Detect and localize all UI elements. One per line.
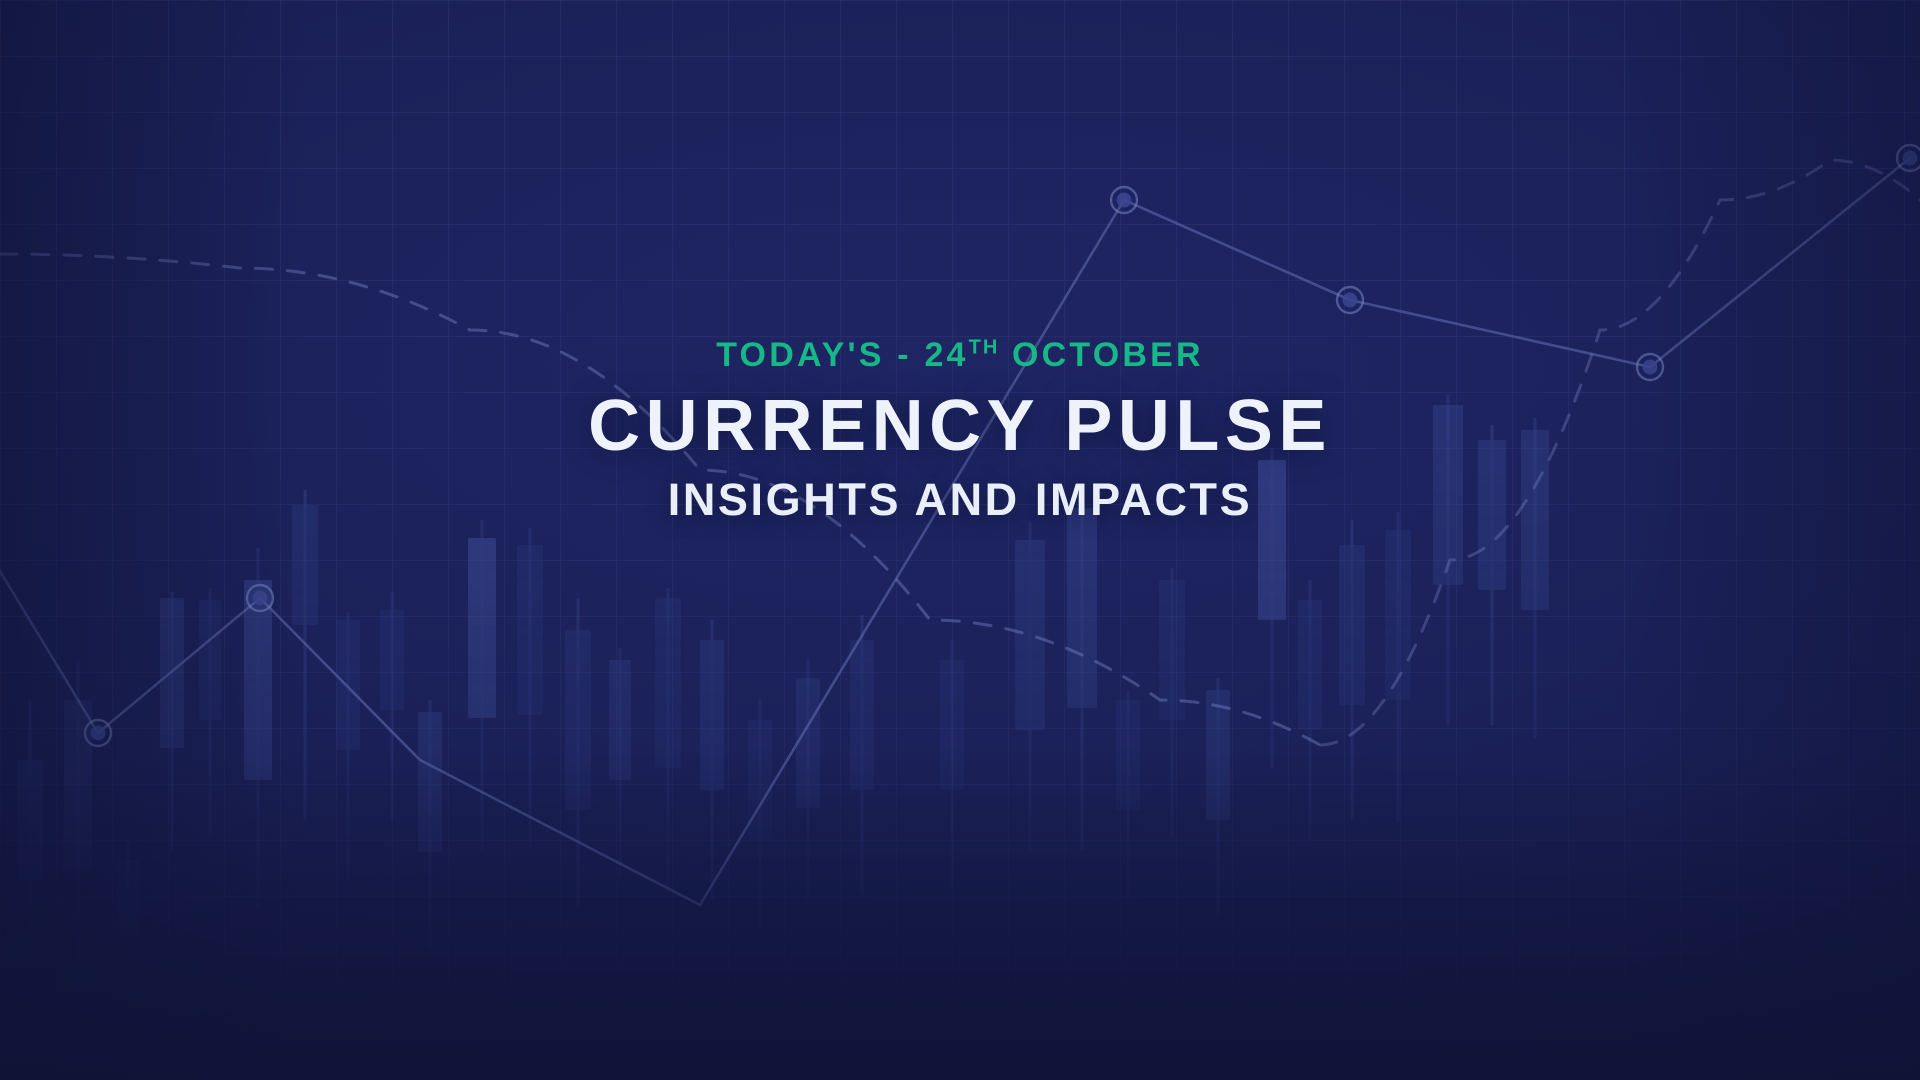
- eyebrow-month: OCTOBER: [999, 336, 1203, 374]
- eyebrow-ordinal-suffix: TH: [969, 337, 1000, 359]
- dashed-trend-chart: [0, 0, 1920, 1080]
- eyebrow-date: TODAY'S - 24TH OCTOBER: [716, 338, 1204, 372]
- headline-block: TODAY'S - 24TH OCTOBER CURRENCY PULSE IN…: [0, 338, 1920, 522]
- page-subtitle: INSIGHTS AND IMPACTS: [668, 477, 1253, 522]
- page-title: CURRENCY PULSE: [588, 390, 1332, 463]
- eyebrow-prefix: TODAY'S - 24: [716, 336, 968, 374]
- banner-stage: TODAY'S - 24TH OCTOBER CURRENCY PULSE IN…: [0, 0, 1920, 1080]
